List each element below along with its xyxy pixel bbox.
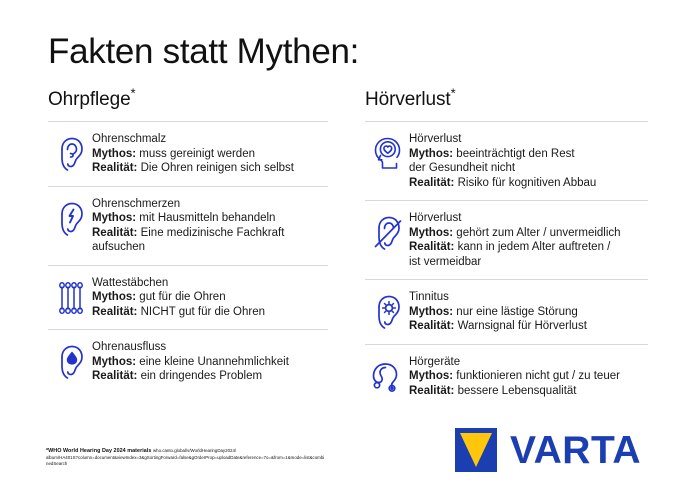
item-text: Ohrenschmalz Mythos: muss gereinigt werd… <box>92 131 333 176</box>
mythos-text: funktionieren nicht gut / zu teuer <box>456 370 620 382</box>
realitaet-text: Eine medizinische Fachkraft <box>141 227 285 239</box>
varta-triangle-icon <box>460 433 492 467</box>
footnote-line-2: album/HA401S?column=document&viewIndex=3… <box>46 455 326 467</box>
item-mythos: Mythos: gut für die Ohren <box>92 290 333 305</box>
item-mythos: Mythos: muss gereinigt werden <box>92 147 333 162</box>
item-realitaet: Realität: bessere Lebensqualität <box>409 384 650 399</box>
item-text: Hörgeräte Mythos: funktionieren nicht gu… <box>409 354 650 399</box>
varta-logo-mark-icon <box>455 428 497 472</box>
mythos-text: beeinträchtigt den Rest <box>456 148 574 160</box>
column-ohrpflege: Ohrpflege* Ohrenschmalz Mythos: muss ger… <box>48 88 333 394</box>
item-realitaet: Realität: Risiko für kognitiven Abbau <box>409 176 650 191</box>
item-text: Hörverlust Mythos: beeinträchtigt den Re… <box>409 131 650 190</box>
item-mythos: Mythos: nur eine lästige Störung <box>409 305 650 320</box>
realitaet-label: Realität: <box>92 306 137 318</box>
footnote-asterisk: * <box>451 86 456 101</box>
mythos-label: Mythos: <box>409 148 453 160</box>
item-realitaet: Realität: NICHT gut für die Ohren <box>92 305 333 320</box>
page-title: Fakten statt Mythen: <box>48 31 359 73</box>
realitaet-text: Warnsignal für Hörverlust <box>458 320 587 332</box>
mythos-label: Mythos: <box>409 306 453 318</box>
list-item: Tinnitus Mythos: nur eine lästige Störun… <box>365 280 650 344</box>
column-heading-ohrpflege: Ohrpflege* <box>48 88 136 112</box>
item-text: Ohrenschmerzen Mythos: mit Hausmitteln b… <box>92 196 333 255</box>
item-extra-line: aufsuchen <box>92 240 333 255</box>
list-item: Hörgeräte Mythos: funktionieren nicht gu… <box>365 345 650 409</box>
column-heading-text: Ohrpflege <box>48 89 131 110</box>
realitaet-text: ein dringendes Problem <box>141 370 262 382</box>
item-text: Hörverlust Mythos: gehört zum Alter / un… <box>409 210 650 269</box>
list-item: Ohrenschmerzen Mythos: mit Hausmitteln b… <box>48 187 333 265</box>
item-text: Wattestäbchen Mythos: gut für die Ohren … <box>92 275 333 320</box>
ear-tinnitus-icon <box>365 291 409 333</box>
footnote-source-url-start: who.canto.global/v/WorldHearingDay2024/ <box>153 448 236 453</box>
mythos-text: eine kleine Unannehmlichkeit <box>139 356 289 368</box>
realitaet-label: Realität: <box>92 370 137 382</box>
item-name: Hörverlust <box>409 132 650 147</box>
column-heading-hoerverlust: Hörverlust* <box>365 88 456 112</box>
mythos-label: Mythos: <box>92 212 136 224</box>
mythos-text: mit Hausmitteln behandeln <box>139 212 275 224</box>
item-mythos: Mythos: gehört zum Alter / unvermeidlich <box>409 226 650 241</box>
list-item: Ohrenausfluss Mythos: eine kleine Unanne… <box>48 330 333 394</box>
mythos-label: Mythos: <box>409 370 453 382</box>
footnote-source-title: *WHO World Hearing Day 2024 materials <box>46 448 151 454</box>
item-realitaet: Realität: ein dringendes Problem <box>92 369 333 384</box>
column-hoerverlust: Hörverlust* Hörverlust Mythos: beeinträc… <box>365 88 650 408</box>
mythos-text: gut für die Ohren <box>139 291 225 303</box>
realitaet-label: Realität: <box>409 177 454 189</box>
mythos-label: Mythos: <box>409 227 453 239</box>
mythos-text: nur eine lästige Störung <box>456 306 577 318</box>
realitaet-text: NICHT gut für die Ohren <box>141 306 265 318</box>
item-text: Tinnitus Mythos: nur eine lästige Störun… <box>409 289 650 334</box>
realitaet-text: Die Ohren reinigen sich selbst <box>141 162 294 174</box>
varta-logo: VARTA <box>455 428 641 472</box>
item-name: Wattestäbchen <box>92 276 333 291</box>
item-extra-line: ist vermeidbar <box>409 255 650 270</box>
item-name: Hörgeräte <box>409 355 650 370</box>
item-name: Ohrenschmerzen <box>92 197 333 212</box>
item-realitaet: Realität: Warnsignal für Hörverlust <box>409 319 650 334</box>
item-realitaet: Realität: Eine medizinische Fachkraft <box>92 226 333 241</box>
item-name: Tinnitus <box>409 290 650 305</box>
list-item: Hörverlust Mythos: beeinträchtigt den Re… <box>365 122 650 200</box>
ear-icon <box>48 133 92 175</box>
realitaet-label: Realität: <box>92 162 137 174</box>
footnote-asterisk: * <box>131 86 136 101</box>
list-item: Ohrenschmalz Mythos: muss gereinigt werd… <box>48 122 333 186</box>
cotton-swab-icon <box>48 277 92 319</box>
realitaet-text: bessere Lebensqualität <box>458 385 577 397</box>
ear-discharge-icon <box>48 341 92 383</box>
realitaet-text: Risiko für kognitiven Abbau <box>458 177 597 189</box>
varta-wordmark: VARTA <box>510 431 641 470</box>
item-name: Ohrenschmalz <box>92 132 333 147</box>
item-realitaet: Realität: kann in jedem Alter auftreten … <box>409 240 650 255</box>
head-heart-brain-icon <box>365 133 409 175</box>
realitaet-label: Realität: <box>409 320 454 332</box>
list-item: Wattestäbchen Mythos: gut für die Ohren … <box>48 266 333 330</box>
footnote-line-1: *WHO World Hearing Day 2024 materials wh… <box>46 448 326 455</box>
item-mythos: Mythos: eine kleine Unannehmlichkeit <box>92 355 333 370</box>
ear-pain-icon <box>48 198 92 240</box>
footnote: *WHO World Hearing Day 2024 materials wh… <box>46 448 326 467</box>
realitaet-label: Realität: <box>409 241 454 253</box>
item-text: Ohrenausfluss Mythos: eine kleine Unanne… <box>92 339 333 384</box>
item-mythos: Mythos: funktionieren nicht gut / zu teu… <box>409 369 650 384</box>
mythos-text: muss gereinigt werden <box>139 148 255 160</box>
mythos-label: Mythos: <box>92 356 136 368</box>
mythos-label: Mythos: <box>92 148 136 160</box>
mythos-text: gehört zum Alter / unvermeidlich <box>456 227 620 239</box>
item-mythos: Mythos: mit Hausmitteln behandeln <box>92 211 333 226</box>
infographic-canvas: Fakten statt Mythen: Ohrpflege* Ohrensch… <box>0 0 699 493</box>
realitaet-text: kann in jedem Alter auftreten / <box>458 241 611 253</box>
hearing-aid-icon <box>365 356 409 398</box>
list-item: Hörverlust Mythos: gehört zum Alter / un… <box>365 201 650 279</box>
realitaet-label: Realität: <box>92 227 137 239</box>
column-heading-text: Hörverlust <box>365 89 451 110</box>
mythos-label: Mythos: <box>92 291 136 303</box>
item-mythos: Mythos: beeinträchtigt den Rest <box>409 147 650 162</box>
ear-crossed-out-icon <box>365 212 409 254</box>
item-mythos-wrap: der Gesundheit nicht <box>409 161 650 176</box>
item-name: Hörverlust <box>409 211 650 226</box>
item-realitaet: Realität: Die Ohren reinigen sich selbst <box>92 161 333 176</box>
realitaet-label: Realität: <box>409 385 454 397</box>
item-name: Ohrenausfluss <box>92 340 333 355</box>
